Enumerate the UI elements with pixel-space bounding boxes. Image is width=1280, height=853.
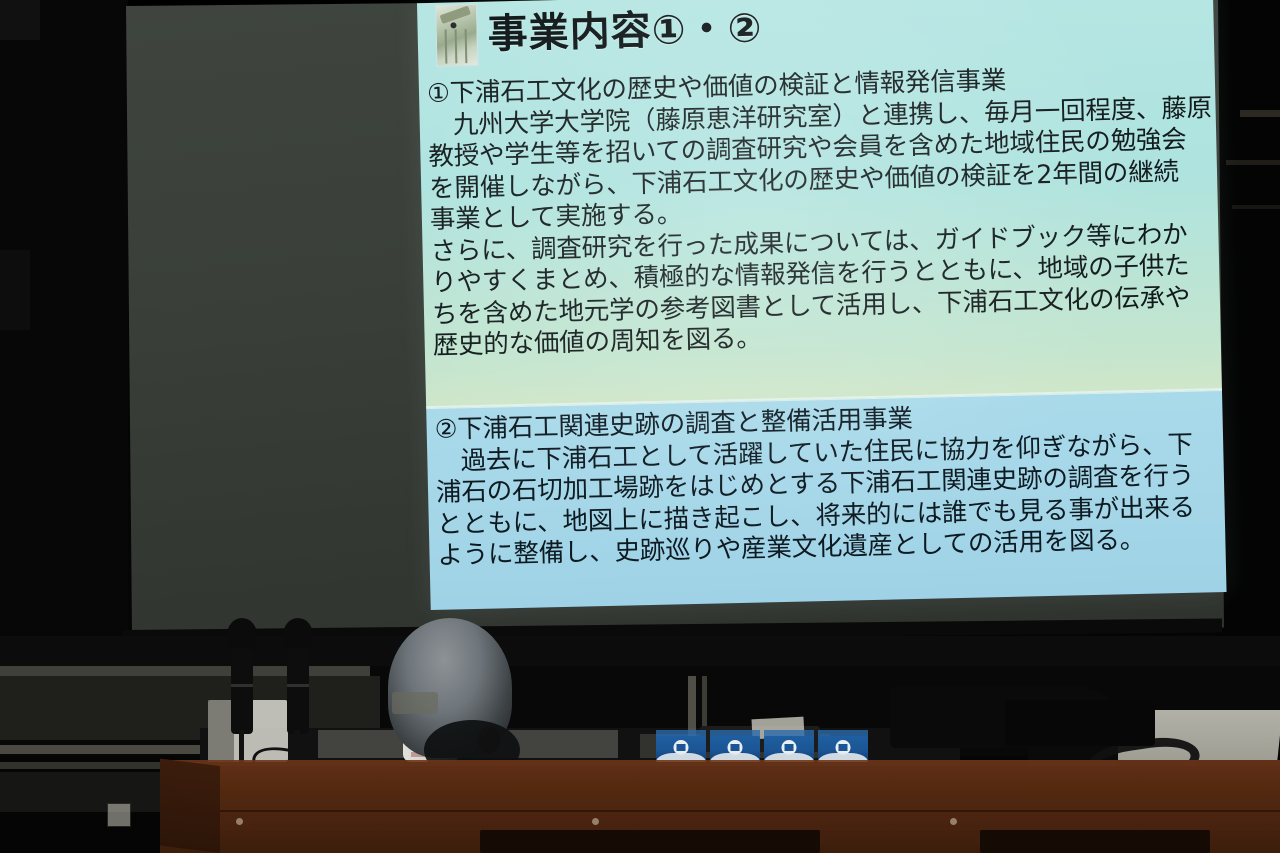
presentation-slide: 事業内容①・② ①下浦石工文化の歴史や価値の検証と情報発信事業 九州大学大学院（…	[417, 0, 1227, 610]
lecture-hall-scene: 事業内容①・② ①下浦石工文化の歴史や価値の検証と情報発信事業 九州大学大学院（…	[0, 0, 1280, 853]
right-wall	[1215, 0, 1280, 700]
microphone-head	[283, 618, 313, 652]
slide-section-2-body: ②下浦石工関連史跡の調査と整備活用事業 過去に下浦石工として活躍していた住民に協…	[434, 397, 1221, 572]
microphone-band	[287, 684, 309, 687]
right-wall-trim-3	[1232, 205, 1280, 209]
podium-vent-right	[980, 830, 1210, 853]
microphone-band	[231, 684, 253, 687]
left-wall	[0, 0, 128, 700]
blue-box	[818, 736, 868, 762]
podium-vent	[480, 830, 820, 853]
blue-box	[764, 736, 814, 762]
wall-rail-top	[0, 666, 370, 676]
podium-seam	[220, 810, 1280, 812]
podium-screw	[592, 818, 599, 825]
wall-plate	[107, 803, 131, 827]
stone-tool-photo-icon	[435, 4, 478, 67]
blue-box	[710, 736, 760, 762]
podium-screw	[236, 818, 243, 825]
monitor-silhouette	[1005, 700, 1155, 746]
right-wall-trim-2	[1226, 160, 1280, 165]
microphone-body[interactable]	[287, 648, 309, 734]
right-wall-trim-1	[1240, 110, 1280, 117]
blue-box	[656, 736, 706, 762]
projection-screen: 事業内容①・② ①下浦石工文化の歴史や価値の検証と情報発信事業 九州大学大学院（…	[126, 0, 1224, 638]
microphone-head	[227, 618, 257, 652]
back-wall-strip	[0, 636, 1280, 666]
upper-left-wall-patch	[0, 0, 40, 40]
glasses	[392, 692, 438, 714]
slide-title-row: 事業内容①・②	[435, 0, 763, 67]
podium-screw	[950, 818, 957, 825]
microphone-body[interactable]	[231, 648, 253, 734]
left-panel-edge	[0, 250, 30, 330]
slide-section-1-body: ①下浦石工文化の歴史や価値の検証と情報発信事業 九州大学大学院（藤原恵洋研究室）…	[427, 61, 1217, 362]
slide-title: 事業内容①・②	[487, 8, 763, 54]
podium-left-bevel	[160, 759, 220, 853]
window-frame-left	[688, 676, 696, 738]
